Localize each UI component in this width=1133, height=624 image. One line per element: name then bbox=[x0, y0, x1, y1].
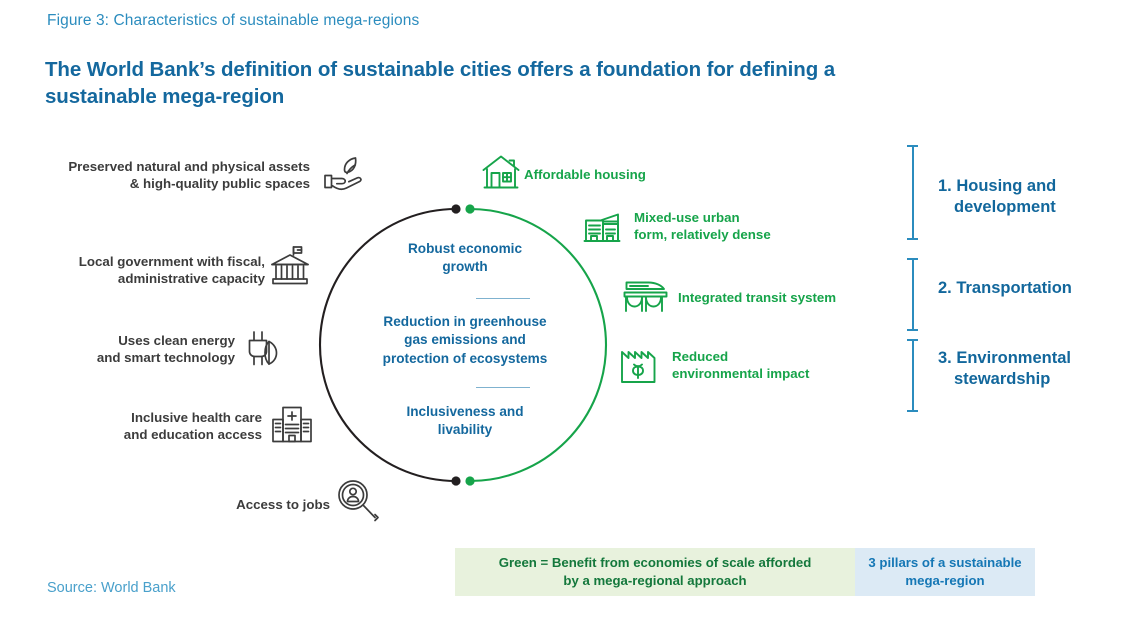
left-item-3-line1: Inclusive health care bbox=[30, 409, 262, 426]
pillar-bracket-2 bbox=[907, 258, 918, 331]
center-divider-1 bbox=[476, 298, 530, 299]
left-item-0-label: Preserved natural and physical assets & … bbox=[30, 158, 310, 193]
arc-endpoint-dot-bottom-black bbox=[451, 476, 460, 485]
train-viaduct-icon bbox=[622, 276, 672, 318]
center-item-0-line1: Robust economic bbox=[345, 240, 585, 258]
legend-green-cell: Green = Benefit from economies of scale … bbox=[455, 548, 855, 596]
left-item-2-label: Uses clean energy and smart technology bbox=[30, 332, 235, 367]
pillar-3-line2: stewardship bbox=[938, 369, 1128, 390]
pillar-3-label: 3. Environmental stewardship bbox=[938, 348, 1128, 390]
center-item-1: Reduction in greenhouse gas emissions an… bbox=[345, 313, 585, 368]
arc-endpoint-dot-bottom-green bbox=[465, 476, 474, 485]
right-item-1-line2: form, relatively dense bbox=[634, 226, 849, 243]
bracket-stem bbox=[912, 339, 914, 412]
legend: Green = Benefit from economies of scale … bbox=[455, 548, 1035, 596]
left-item-0-line2: & high-quality public spaces bbox=[30, 175, 310, 192]
arc-endpoint-dot-top-black bbox=[451, 204, 460, 213]
center-item-2-line1: Inclusiveness and bbox=[345, 403, 585, 421]
right-item-2-label: Integrated transit system bbox=[678, 289, 908, 306]
infographic-canvas: Figure 3: Characteristics of sustainable… bbox=[0, 0, 1133, 624]
pillar-1-line1: 1. Housing and bbox=[938, 176, 1118, 197]
pillar-3-line1: 3. Environmental bbox=[938, 348, 1128, 369]
bracket-stem bbox=[912, 258, 914, 331]
mixed-use-buildings-icon bbox=[582, 206, 626, 252]
center-item-1-line2: gas emissions and bbox=[345, 331, 585, 349]
bracket-cap-bottom bbox=[907, 238, 918, 240]
arc-endpoint-dot-top-green bbox=[465, 204, 474, 213]
center-item-2-line2: livability bbox=[345, 421, 585, 439]
right-item-0-line1: Affordable housing bbox=[524, 166, 724, 183]
center-item-1-line1: Reduction in greenhouse bbox=[345, 313, 585, 331]
split-circle-diagram: Robust economic growth Reduction in gree… bbox=[300, 180, 630, 510]
bracket-stem bbox=[912, 145, 914, 240]
left-item-0-line1: Preserved natural and physical assets bbox=[30, 158, 310, 175]
left-item-2-line2: and smart technology bbox=[30, 349, 235, 366]
legend-green-line1: Green = Benefit from economies of scale … bbox=[499, 554, 812, 572]
right-item-2-line1: Integrated transit system bbox=[678, 289, 908, 306]
right-item-0-label: Affordable housing bbox=[524, 166, 724, 183]
pillar-1-line2: development bbox=[938, 197, 1118, 218]
center-item-2: Inclusiveness and livability bbox=[345, 403, 585, 440]
figure-label: Figure 3: Characteristics of sustainable… bbox=[47, 12, 419, 30]
legend-green-line2: by a mega-regional approach bbox=[499, 572, 812, 590]
left-item-3-line2: and education access bbox=[30, 426, 262, 443]
right-item-3-line2: environmental impact bbox=[672, 365, 872, 382]
left-item-1-label: Local government with fiscal, administra… bbox=[30, 253, 265, 288]
left-item-3-label: Inclusive health care and education acce… bbox=[30, 409, 262, 444]
left-item-1-line2: administrative capacity bbox=[30, 270, 265, 287]
right-item-3-label: Reduced environmental impact bbox=[672, 348, 872, 383]
center-item-0: Robust economic growth bbox=[345, 240, 585, 277]
legend-blue-line2: mega-region bbox=[868, 572, 1021, 590]
left-item-2-line1: Uses clean energy bbox=[30, 332, 235, 349]
pillar-bracket-1 bbox=[907, 145, 918, 240]
center-divider-2 bbox=[476, 387, 530, 388]
plug-leaf-icon bbox=[243, 328, 287, 374]
house-icon bbox=[481, 152, 521, 192]
bracket-cap-bottom bbox=[907, 410, 918, 412]
legend-blue-line1: 3 pillars of a sustainable bbox=[868, 554, 1021, 572]
pillar-1-label: 1. Housing and development bbox=[938, 176, 1118, 218]
page-title: The World Bank’s definition of sustainab… bbox=[45, 56, 925, 110]
pillar-2-label: 2. Transportation bbox=[938, 278, 1128, 299]
center-item-0-line2: growth bbox=[345, 258, 585, 276]
bracket-cap-bottom bbox=[907, 329, 918, 331]
right-item-1-line1: Mixed-use urban bbox=[634, 209, 849, 226]
legend-blue-cell: 3 pillars of a sustainable mega-region bbox=[855, 548, 1035, 596]
source-note: Source: World Bank bbox=[47, 580, 176, 596]
pillar-2-line1: 2. Transportation bbox=[938, 278, 1128, 299]
right-item-1-label: Mixed-use urban form, relatively dense bbox=[634, 209, 849, 244]
center-item-1-line3: protection of ecosystems bbox=[345, 350, 585, 368]
right-item-3-line1: Reduced bbox=[672, 348, 872, 365]
pillar-bracket-3 bbox=[907, 339, 918, 412]
factory-leaf-icon bbox=[617, 344, 661, 388]
left-item-1-line1: Local government with fiscal, bbox=[30, 253, 265, 270]
